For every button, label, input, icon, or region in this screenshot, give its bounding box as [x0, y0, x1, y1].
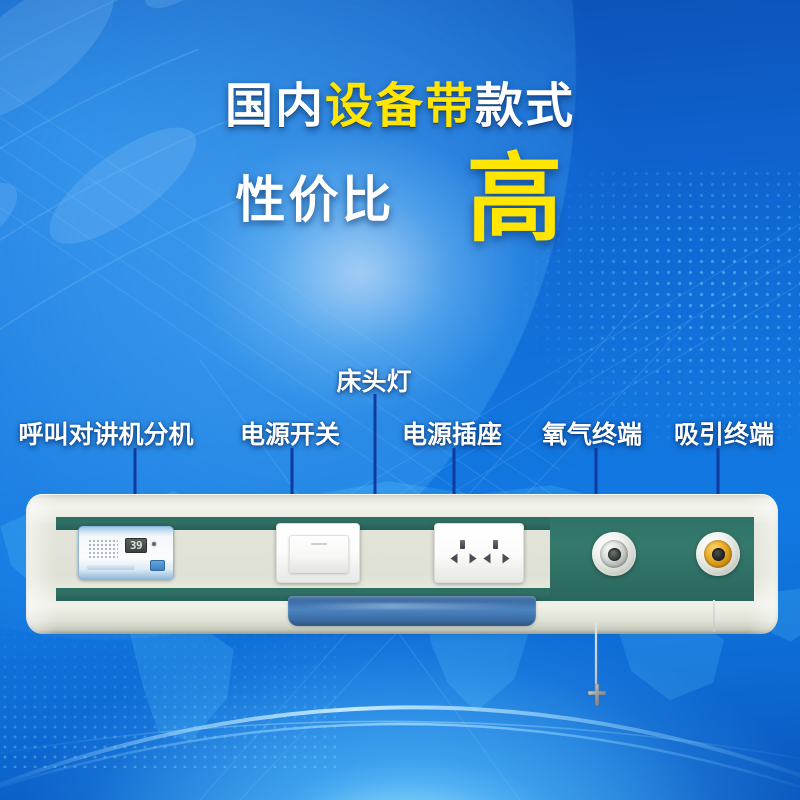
power-socket-device[interactable] [434, 523, 524, 583]
oxygen-port-icon [608, 548, 621, 561]
socket-slot-icon [484, 554, 491, 564]
rocker-marking [311, 543, 327, 545]
callout-label-bed-lamp: 床头灯 [336, 362, 411, 398]
oxygen-terminal-ring [600, 540, 628, 568]
socket-slot-icon [503, 554, 510, 564]
intercom-display: 39 [125, 538, 147, 553]
pull-cord-line [595, 622, 597, 692]
callout-label-power-socket: 电源插座 [402, 415, 502, 451]
status-led-icon [152, 542, 156, 546]
socket-pin-icon [493, 540, 498, 549]
nurse-call-intercom-device[interactable]: 39 [78, 526, 174, 580]
socket-outlet-right[interactable] [435, 540, 523, 570]
rocker-paddle[interactable] [289, 535, 349, 573]
pull-cord-line-secondary [713, 600, 715, 632]
callout-layer: 呼叫对讲机分机 电源开关 床头灯 电源插座 氧气终端 吸引终端 [0, 0, 800, 800]
speaker-grille-icon [88, 539, 118, 559]
oxygen-terminal-device[interactable] [592, 532, 636, 576]
pull-cord-handle[interactable] [588, 684, 606, 706]
callout-label-nurse-call-intercom: 呼叫对讲机分机 [18, 415, 193, 451]
suction-terminal-device[interactable] [696, 532, 740, 576]
suction-port-icon [712, 548, 725, 561]
intercom-call-button[interactable] [150, 560, 165, 571]
cross-handle-icon [588, 684, 606, 706]
callout-label-power-switch: 电源开关 [240, 415, 340, 451]
panel-end-cap-left [26, 494, 56, 634]
panel-body: 39 [26, 494, 778, 634]
callout-label-oxygen-terminal: 氧气终端 [542, 415, 642, 451]
intercom-label-strip [87, 565, 135, 570]
bed-head-unit-panel: 39 [26, 494, 778, 634]
power-switch-device[interactable] [276, 523, 360, 583]
bed-lamp-diffuser[interactable] [288, 596, 536, 626]
suction-terminal-ring [704, 540, 732, 568]
callout-label-suction-terminal: 吸引终端 [674, 415, 774, 451]
